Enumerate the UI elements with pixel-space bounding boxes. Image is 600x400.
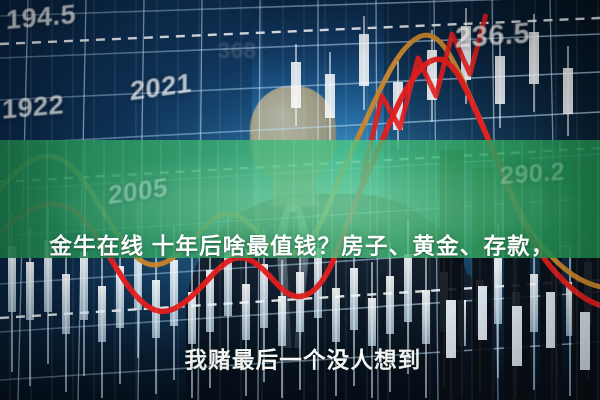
headline-line-2: 我赌最后一个没人想到 <box>0 342 600 380</box>
banner-image: 194.5 1922 2021 236.5 368 2005 290.2 金牛在… <box>0 0 600 400</box>
headline: 金牛在线 十年后啥最值钱？房子、黄金、存款， 我赌最后一个没人想到 <box>0 152 600 400</box>
headline-line-1: 金牛在线 十年后啥最值钱？房子、黄金、存款， <box>0 228 600 266</box>
